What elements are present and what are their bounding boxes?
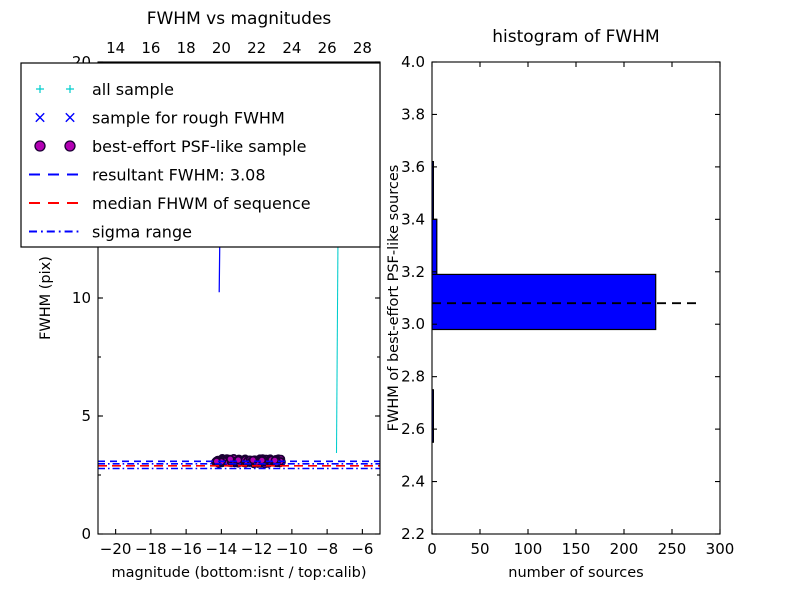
- right-ytick-label: 2.8: [401, 368, 425, 386]
- right-ytick-label: 3.8: [401, 105, 425, 123]
- right-xaxis-label: number of sources: [508, 565, 644, 581]
- legend-item-label: median FHWM of sequence: [92, 194, 311, 213]
- legend-item[interactable]: best-effort PSF-like sample: [24, 133, 377, 159]
- left-xtop-tick-label: 22: [247, 39, 266, 57]
- left-xtop-tick-label: 24: [282, 39, 301, 57]
- left-xtop-tick-label: 26: [318, 39, 337, 57]
- left-xtick-label: −12: [241, 540, 273, 558]
- legend-item[interactable]: median FHWM of sequence: [24, 190, 377, 216]
- right-xtick-label: 300: [706, 540, 735, 558]
- right-xtick-label: 50: [470, 540, 489, 558]
- left-yaxis-label: FWHM (pix): [38, 256, 54, 340]
- psf-like-marker: [250, 457, 257, 464]
- right-ytick-label: 3.4: [401, 210, 425, 228]
- right-yaxis-label: FWHM of best-effort PSF-like sources: [386, 165, 402, 432]
- psf-like-marker: [235, 457, 242, 464]
- right-panel-title: histogram of FWHM: [492, 27, 659, 47]
- left-xtick-label: −6: [351, 540, 373, 558]
- legend-item-label: all sample: [92, 80, 174, 99]
- right-ytick-label: 3.6: [401, 158, 425, 176]
- right-ytick-label: 2.2: [401, 525, 425, 543]
- histogram-bar: [432, 219, 437, 274]
- figure-canvas: FWHM vs magnitudes −20−18−16−14−12−10−8−…: [0, 0, 800, 600]
- legend-item-label: resultant FWHM: 3.08: [92, 166, 266, 185]
- left-xtop-tick-label: 20: [212, 39, 231, 57]
- legend-item[interactable]: all sample: [24, 76, 377, 102]
- left-xtop-tick-label: 16: [141, 39, 160, 57]
- circle-icon: [65, 141, 75, 151]
- legend-item[interactable]: sample for rough FWHM: [24, 105, 377, 131]
- legend-item-label: sample for rough FWHM: [92, 109, 285, 128]
- right-xtick-label: 150: [562, 540, 591, 558]
- legend-item-label: sigma range: [92, 223, 192, 242]
- left-xtop-tick-label: 28: [353, 39, 372, 57]
- legend-item[interactable]: sigma range: [24, 219, 377, 245]
- right-xtick-label: 250: [658, 540, 687, 558]
- psf-like-marker: [259, 457, 266, 464]
- right-xtick-label: 200: [610, 540, 639, 558]
- psf-like-marker: [271, 457, 278, 464]
- legend-item-label: best-effort PSF-like sample: [92, 137, 306, 156]
- right-ytick-label: 2.4: [401, 473, 425, 491]
- right-xtick-label: 0: [427, 540, 437, 558]
- right-ytick-label: 4.0: [401, 53, 425, 71]
- left-xtop-tick-label: 14: [106, 39, 125, 57]
- left-xaxis-label: magnitude (bottom:isnt / top:calib): [111, 565, 366, 581]
- left-ytick-label: 5: [81, 407, 91, 425]
- circle-icon: [35, 141, 45, 151]
- right-ytick-label: 3.2: [401, 263, 425, 281]
- right-xtick-label: 100: [514, 540, 543, 558]
- left-xtick-label: −8: [316, 540, 338, 558]
- left-xtick-label: −16: [170, 540, 202, 558]
- left-panel-title: FWHM vs magnitudes: [147, 9, 332, 29]
- right-ytick-label: 2.6: [401, 420, 425, 438]
- right-ytick-label: 3.0: [401, 315, 425, 333]
- legend-item[interactable]: resultant FWHM: 3.08: [24, 162, 377, 188]
- left-xtop-tick-label: 18: [177, 39, 196, 57]
- left-xtick-label: −14: [206, 540, 238, 558]
- left-xtick-label: −10: [276, 540, 308, 558]
- left-ytick-label: 10: [72, 289, 91, 307]
- left-ytick-label: 0: [81, 525, 91, 543]
- histogram-bar: [432, 274, 656, 329]
- left-xtick-label: −20: [100, 540, 132, 558]
- legend-item-hitbox[interactable]: [24, 76, 377, 102]
- left-xtick-label: −18: [135, 540, 167, 558]
- legend[interactable]: all samplesample for rough FWHMbest-effo…: [21, 63, 380, 247]
